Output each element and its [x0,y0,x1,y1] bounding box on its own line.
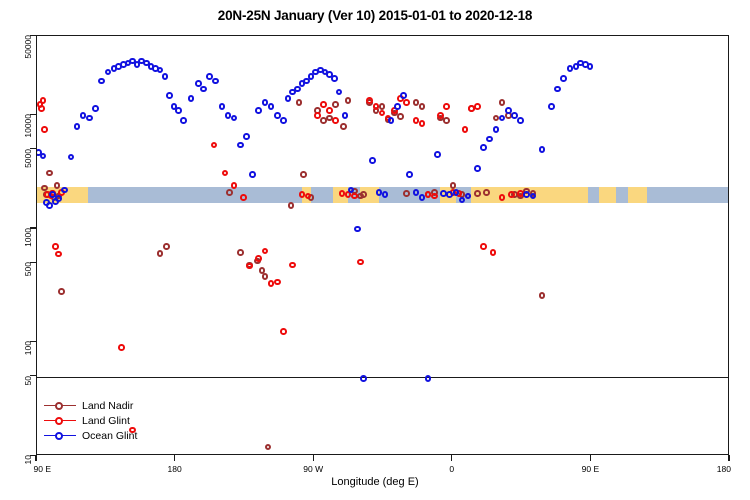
data-point [490,249,497,256]
data-point [453,189,460,196]
data-point [285,95,292,102]
data-point [474,165,481,172]
data-point [40,153,47,160]
data-point [74,123,81,130]
data-point [493,126,500,133]
legend-label: Land Nadir [82,400,133,412]
data-point [180,117,187,124]
data-point [539,146,546,153]
legend-label: Land Glint [82,415,130,427]
data-point [499,99,506,106]
x-tick-label: 90 W [303,464,323,474]
data-point [336,89,343,96]
data-point [219,103,226,110]
data-point [255,107,262,114]
data-point [419,103,426,110]
data-point [388,117,395,124]
data-point [200,86,207,93]
legend-label: Ocean Glint [82,430,137,442]
legend-dot-icon [55,417,63,425]
data-point [360,191,367,198]
landsea-segment-ocean [88,187,302,203]
plot-frame [36,35,729,455]
chart-root: 20N-25N January (Ver 10) 2015-01-01 to 2… [0,0,750,500]
data-point [437,112,444,119]
data-point [46,170,53,177]
data-point [262,273,269,280]
data-point [249,171,256,178]
landsea-segment-ocean [588,187,599,203]
data-point [413,189,420,196]
landsea-segment-land [79,187,88,203]
data-point [360,375,367,382]
data-point [443,117,450,124]
landsea-segment-ocean [616,187,628,203]
data-point [55,195,62,202]
data-point [508,191,515,198]
chart-legend: Land NadirLand GlintOcean Glint [44,398,137,443]
x-tick-mark [451,455,452,461]
landsea-segment-land [628,187,646,203]
legend-dot-icon [55,432,63,440]
data-point [237,142,244,149]
data-point [294,86,301,93]
data-point [166,92,173,99]
data-point [288,202,295,209]
data-point [331,75,338,82]
data-point [474,103,481,110]
x-tick-mark [728,455,729,461]
data-point [443,103,450,110]
data-point [58,288,65,295]
data-point [320,101,327,108]
data-point [326,107,333,114]
legend-marker [44,399,76,413]
data-point [226,189,233,196]
data-point [406,171,413,178]
data-point [86,115,93,122]
data-point [268,103,275,110]
data-point [345,97,352,104]
data-point [98,78,105,85]
data-point [419,120,426,127]
landsea-segment-land [599,187,616,203]
data-point [425,375,432,382]
data-point [587,63,594,70]
data-point [403,99,410,106]
data-point [274,279,281,286]
data-point [480,144,487,151]
data-point [340,123,347,130]
data-point [397,113,404,120]
x-tick-mark [35,455,36,461]
x-tick-label: 90 E [34,464,52,474]
data-point [55,251,62,258]
data-point [300,171,307,178]
data-point [240,194,247,201]
data-point [41,185,48,192]
x-tick-label: 180 [717,464,731,474]
data-point [548,103,555,110]
data-point [296,99,303,106]
data-point [332,117,339,124]
data-point [175,107,182,114]
data-point [289,262,296,269]
legend-dot-icon [55,402,63,410]
data-point [403,190,410,197]
x-axis-label: Longitude (deg E) [0,476,750,488]
legend-item[interactable]: Land Glint [44,413,137,428]
data-point [342,112,349,119]
data-point [246,263,253,270]
data-point [40,97,47,104]
data-point [419,194,426,201]
x-tick-mark [590,455,591,461]
data-point [105,69,112,76]
data-point [163,243,170,250]
data-point [462,126,469,133]
x-tick-label: 90 E [582,464,600,474]
data-point [157,250,164,257]
data-point [499,194,506,201]
data-point [539,292,546,299]
data-point [212,78,219,85]
data-point [211,142,218,149]
data-point [231,115,238,122]
reference-hline [37,377,728,378]
data-point [92,105,99,112]
x-tick-label: 180 [168,464,182,474]
legend-marker [44,414,76,428]
data-point [474,190,481,197]
data-point [369,157,376,164]
data-point [431,193,438,200]
data-point [480,243,487,250]
data-point [554,86,561,93]
x-tick-mark [174,455,175,461]
data-point [332,101,339,108]
data-point [255,255,262,262]
data-point [41,126,48,133]
data-point [434,151,441,158]
data-point [373,103,380,110]
data-point [483,189,490,196]
data-point [379,110,386,117]
x-tick-label: 0 [449,464,454,474]
data-point [379,103,386,110]
landsea-segment-ocean [647,187,729,203]
data-point [52,243,59,250]
plot-area [37,36,728,454]
data-point [357,259,364,266]
data-point [486,136,493,143]
legend-item[interactable]: Ocean Glint [44,428,137,443]
data-point [499,115,506,122]
data-point [222,170,229,177]
data-point [265,444,272,451]
data-point [38,105,45,112]
data-point [351,193,358,200]
data-point [118,344,125,351]
data-point [394,103,401,110]
data-point [68,154,75,161]
data-point [354,226,361,233]
legend-marker [44,429,76,443]
data-point [366,97,373,104]
data-point [162,73,169,80]
data-point [188,95,195,102]
data-point [523,191,530,198]
x-tick-mark [313,455,314,461]
data-point [314,112,321,119]
data-point [237,249,244,256]
chart-title: 20N-25N January (Ver 10) 2015-01-01 to 2… [0,8,750,23]
legend-item[interactable]: Land Nadir [44,398,137,413]
data-point [280,117,287,124]
landsea-segment-ocean [311,187,333,203]
data-point [560,75,567,82]
data-point [280,328,287,335]
data-point [517,117,524,124]
data-point [262,248,269,255]
data-point [243,133,250,140]
data-point [400,92,407,99]
